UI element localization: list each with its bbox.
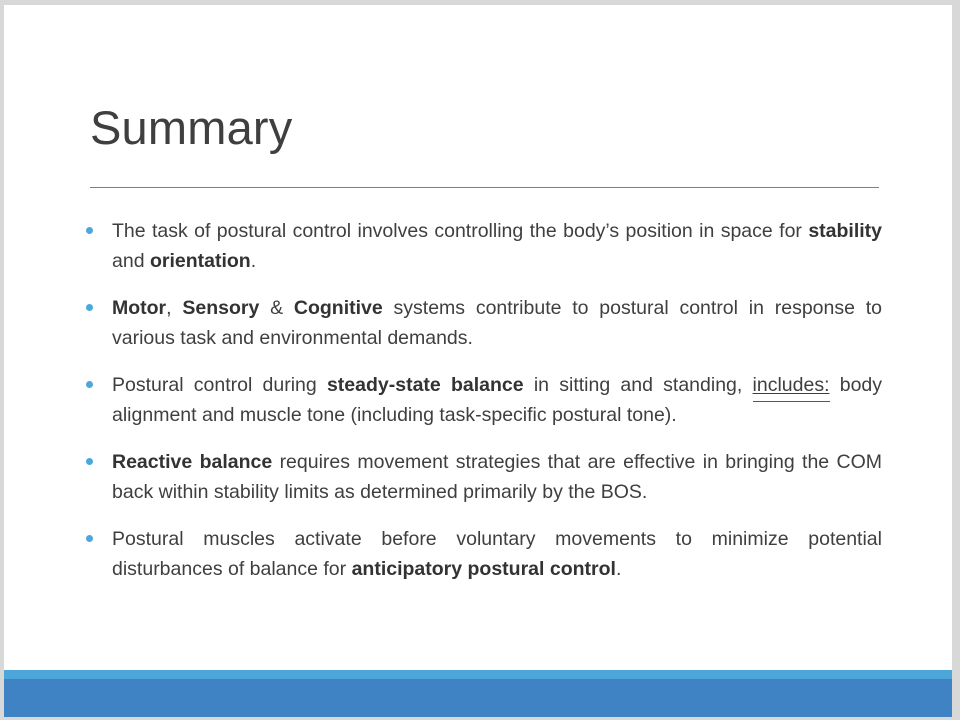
- emphasis-text: steady-state balance: [327, 374, 524, 396]
- bullet-dot-icon: [86, 227, 93, 234]
- body-text: ,: [166, 297, 182, 319]
- list-item: Motor, Sensory & Cognitive systems contr…: [82, 293, 882, 353]
- underlined-text: includes:: [753, 374, 830, 396]
- body-text: The task of postural control involves co…: [112, 220, 808, 242]
- bullet-list: The task of postural control involves co…: [82, 216, 882, 584]
- footer-band: [4, 679, 952, 717]
- emphasis-text: Reactive balance: [112, 451, 272, 473]
- page-title: Summary: [90, 99, 292, 157]
- emphasis-text: Cognitive: [294, 297, 383, 319]
- bullet-dot-icon: [86, 381, 93, 388]
- emphasis-text: Motor: [112, 297, 166, 319]
- emphasis-text: anticipatory postural control: [352, 558, 616, 580]
- list-item-text: Postural muscles activate before volunta…: [112, 524, 882, 584]
- list-item: The task of postural control involves co…: [82, 216, 882, 276]
- bullet-dot-icon: [86, 304, 93, 311]
- body-text: &: [259, 297, 294, 319]
- list-item-text: The task of postural control involves co…: [112, 216, 882, 276]
- list-item: Postural muscles activate before volunta…: [82, 524, 882, 584]
- title-divider: [90, 187, 879, 188]
- body-text: .: [251, 250, 256, 272]
- emphasis-text: stability: [808, 220, 882, 242]
- list-item-text: Postural control during steady-state bal…: [112, 370, 882, 430]
- bullet-dot-icon: [86, 535, 93, 542]
- list-item: Postural control during steady-state bal…: [82, 370, 882, 430]
- emphasis-text: Sensory: [182, 297, 259, 319]
- emphasis-text: orientation: [150, 250, 251, 272]
- bullet-dot-icon: [86, 458, 93, 465]
- body-text: in sitting and standing,: [524, 374, 753, 396]
- slide-canvas: Summary The task of postural control inv…: [4, 5, 952, 717]
- slide-root: Summary The task of postural control inv…: [0, 0, 960, 720]
- footer-accent-stripe: [4, 670, 952, 679]
- body-text: .: [616, 558, 621, 580]
- list-item-text: Motor, Sensory & Cognitive systems contr…: [112, 293, 882, 353]
- list-item-text: Reactive balance requires movement strat…: [112, 447, 882, 507]
- list-item: Reactive balance requires movement strat…: [82, 447, 882, 507]
- body-text: and: [112, 250, 150, 272]
- body-text: Postural control during: [112, 374, 327, 396]
